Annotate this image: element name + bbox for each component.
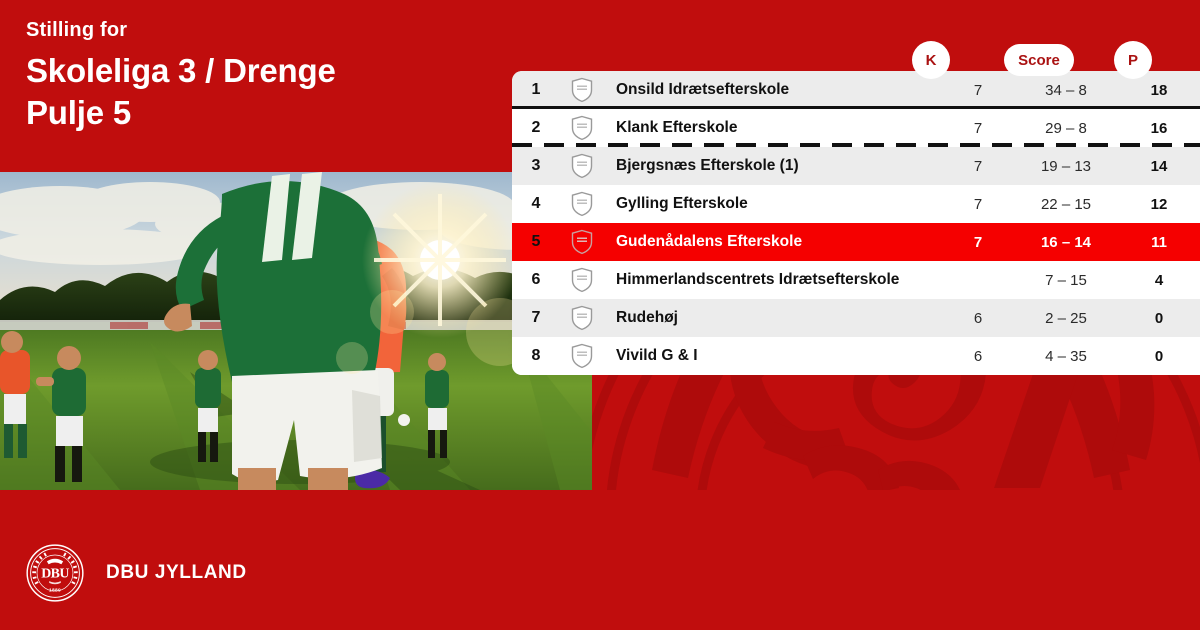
row-points: 4 bbox=[1118, 272, 1200, 289]
table-row[interactable]: 7 Rudehøj 6 2 – 25 0 bbox=[512, 299, 1200, 337]
header-kicker: Stilling for bbox=[26, 18, 506, 42]
shield-placeholder-icon bbox=[560, 305, 604, 331]
column-header-score: Score bbox=[1004, 44, 1074, 76]
header: Stilling for Skoleliga 3 / Drenge Pulje … bbox=[26, 18, 506, 133]
row-matches: 7 bbox=[942, 158, 1014, 175]
footer: DBU 1889 DBU JYLLAND bbox=[26, 544, 247, 602]
column-header-matches: K bbox=[912, 41, 950, 79]
row-team-name: Gylling Efterskole bbox=[604, 195, 942, 213]
row-rank: 2 bbox=[512, 119, 560, 137]
row-team-name: Bjergsnæs Efterskole (1) bbox=[604, 157, 942, 175]
page-title-line1: Skoleliga 3 / Drenge bbox=[26, 50, 506, 92]
row-rank: 7 bbox=[512, 309, 560, 327]
row-matches: 7 bbox=[942, 234, 1014, 251]
row-points: 16 bbox=[1118, 120, 1200, 137]
table-row-highlighted[interactable]: 5 Gudenådalens Efterskole 7 16 – 14 11 bbox=[512, 223, 1200, 261]
row-score: 2 – 25 bbox=[1014, 310, 1118, 327]
row-team-name: Vivild G & I bbox=[604, 347, 942, 365]
table-row[interactable]: 8 Vivild G & I 6 4 – 35 0 bbox=[512, 337, 1200, 375]
row-score: 4 – 35 bbox=[1014, 348, 1118, 365]
shield-placeholder-icon bbox=[560, 267, 604, 293]
row-team-name: Himmerlandscentrets Idrætsefterskole bbox=[604, 271, 942, 289]
row-score: 29 – 8 bbox=[1014, 120, 1118, 137]
footer-label: DBU JYLLAND bbox=[106, 562, 247, 584]
row-points: 0 bbox=[1118, 348, 1200, 365]
row-rank: 6 bbox=[512, 271, 560, 289]
dbu-crest-icon: DBU 1889 bbox=[26, 544, 84, 602]
hero-photo bbox=[0, 172, 592, 490]
shield-placeholder-icon bbox=[560, 115, 604, 141]
row-points: 11 bbox=[1118, 234, 1200, 251]
row-rank: 4 bbox=[512, 195, 560, 213]
row-score: 22 – 15 bbox=[1014, 196, 1118, 213]
row-score: 19 – 13 bbox=[1014, 158, 1118, 175]
row-rank: 8 bbox=[512, 347, 560, 365]
row-points: 14 bbox=[1118, 158, 1200, 175]
row-score: 7 – 15 bbox=[1014, 272, 1118, 289]
standings-table: 1 Onsild Idrætsefterskole 7 34 – 8 18 2 bbox=[512, 71, 1200, 375]
shield-placeholder-icon bbox=[560, 191, 604, 217]
page-title-line2: Pulje 5 bbox=[26, 92, 506, 134]
row-matches: 7 bbox=[942, 120, 1014, 137]
column-header-points: P bbox=[1114, 41, 1152, 79]
shield-placeholder-icon bbox=[560, 343, 604, 369]
table-row[interactable]: 2 Klank Efterskole 7 29 – 8 16 bbox=[512, 109, 1200, 147]
row-matches: 6 bbox=[942, 310, 1014, 327]
row-score: 16 – 14 bbox=[1014, 234, 1118, 251]
row-points: 18 bbox=[1118, 82, 1200, 99]
row-matches: 7 bbox=[942, 196, 1014, 213]
row-team-name: Gudenådalens Efterskole bbox=[604, 233, 942, 251]
row-matches: 7 bbox=[942, 82, 1014, 99]
table-row[interactable]: 6 Himmerlandscentrets Idrætsefterskole 7… bbox=[512, 261, 1200, 299]
table-row[interactable]: 1 Onsild Idrætsefterskole 7 34 – 8 18 bbox=[512, 71, 1200, 109]
shield-placeholder-icon bbox=[560, 77, 604, 103]
row-team-name: Klank Efterskole bbox=[604, 119, 942, 137]
row-rank: 3 bbox=[512, 157, 560, 175]
row-matches: 6 bbox=[942, 348, 1014, 365]
table-row[interactable]: 3 Bjergsnæs Efterskole (1) 7 19 – 13 14 bbox=[512, 147, 1200, 185]
svg-text:1889: 1889 bbox=[49, 588, 61, 594]
shield-placeholder-icon bbox=[560, 153, 604, 179]
table-row[interactable]: 4 Gylling Efterskole 7 22 – 15 12 bbox=[512, 185, 1200, 223]
shield-placeholder-icon bbox=[560, 229, 604, 255]
row-score: 34 – 8 bbox=[1014, 82, 1118, 99]
row-points: 0 bbox=[1118, 310, 1200, 327]
row-rank: 1 bbox=[512, 81, 560, 99]
row-team-name: Onsild Idrætsefterskole bbox=[604, 81, 942, 99]
row-team-name: Rudehøj bbox=[604, 309, 942, 327]
svg-text:DBU: DBU bbox=[41, 567, 69, 582]
standings-graphic: Stilling for Skoleliga 3 / Drenge Pulje … bbox=[0, 0, 1200, 630]
row-points: 12 bbox=[1118, 196, 1200, 213]
row-rank: 5 bbox=[512, 233, 560, 251]
